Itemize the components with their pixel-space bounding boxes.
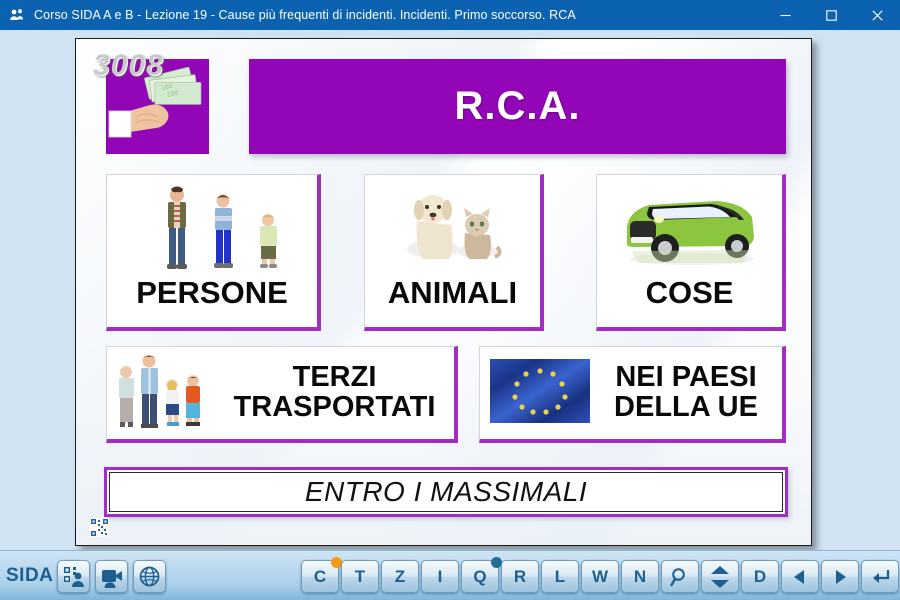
letter-button-q[interactable]: Q xyxy=(461,560,499,593)
green-car-photo xyxy=(597,175,782,279)
title-bar: Corso SIDA A e B - Lezione 19 - Cause pi… xyxy=(0,0,900,30)
bottom-toolbar: SIDA xyxy=(0,550,900,600)
footer-strip-inner: ENTRO I MASSIMALI xyxy=(109,472,783,512)
letter-button-label: Z xyxy=(395,567,405,587)
letter-button-label: T xyxy=(355,567,365,587)
right-triangle-icon xyxy=(831,568,849,586)
card-label: PERSONE xyxy=(136,277,288,308)
letter-button-label: I xyxy=(438,567,443,587)
letter-button-l[interactable]: L xyxy=(541,560,579,593)
letter-button-label: N xyxy=(634,567,646,587)
letter-button-label: W xyxy=(592,567,608,587)
card-label-line2: DELLA UE xyxy=(614,391,758,423)
cards-row: PERSONE xyxy=(106,174,786,331)
letter-button-n[interactable]: N xyxy=(621,560,659,593)
qr-person-button[interactable] xyxy=(57,560,90,593)
footer-text: ENTRO I MASSIMALI xyxy=(305,476,587,508)
left-triangle-icon xyxy=(791,568,809,586)
letter-button-r[interactable]: R xyxy=(501,560,539,593)
card-label: ANIMALI xyxy=(388,277,517,308)
card-label-line1: TERZI xyxy=(293,361,377,393)
letter-button-w[interactable]: W xyxy=(581,560,619,593)
eu-flag xyxy=(490,359,590,428)
search-button[interactable] xyxy=(661,560,699,593)
card-persone[interactable]: PERSONE xyxy=(106,174,321,331)
letter-button-i[interactable]: I xyxy=(421,560,459,593)
up-down-arrows-icon xyxy=(709,564,731,590)
workspace: 3008 100 100 xyxy=(0,30,900,550)
card-cose[interactable]: COSE xyxy=(596,174,786,331)
slide-number: 3008 xyxy=(93,49,164,83)
enter-button[interactable] xyxy=(861,560,899,593)
video-person-button[interactable] xyxy=(95,560,128,593)
maximize-button[interactable] xyxy=(808,0,854,30)
card-label: COSE xyxy=(646,277,734,308)
card-label: NEI PAESI DELLA UE xyxy=(590,363,782,423)
letter-button-label: L xyxy=(555,567,565,587)
minimize-button[interactable] xyxy=(762,0,808,30)
header-row: 100 100 R.C.A. xyxy=(106,59,786,154)
dog-and-cat-photo xyxy=(365,175,540,279)
slide-canvas: 3008 100 100 xyxy=(75,38,812,546)
letter-button-z[interactable]: Z xyxy=(381,560,419,593)
people-icon xyxy=(9,7,25,23)
close-button[interactable] xyxy=(854,0,900,30)
magnifier-icon xyxy=(670,567,690,587)
next-button[interactable] xyxy=(821,560,859,593)
three-people-photo xyxy=(107,175,317,279)
letter-button-label: R xyxy=(514,567,526,587)
globe-button[interactable] xyxy=(133,560,166,593)
card-label: TERZI TRASPORTATI xyxy=(215,363,454,423)
letter-button-c[interactable]: C xyxy=(301,560,339,593)
window-title: Corso SIDA A e B - Lezione 19 - Cause pi… xyxy=(34,8,576,22)
d-button-label: D xyxy=(754,567,766,587)
card-terzi-trasportati[interactable]: TERZI TRASPORTATI xyxy=(106,346,458,443)
brand-label: SIDA xyxy=(6,565,53,587)
card-label-line1: NEI PAESI xyxy=(615,361,756,393)
footer-strip: ENTRO I MASSIMALI xyxy=(104,467,788,517)
card-label-line2: TRASPORTATI xyxy=(234,391,436,423)
d-button[interactable]: D xyxy=(741,560,779,593)
application-window: Corso SIDA A e B - Lezione 19 - Cause pi… xyxy=(0,0,900,600)
card-animali[interactable]: ANIMALI xyxy=(364,174,544,331)
wide-row: TERZI TRASPORTATI xyxy=(106,346,786,443)
previous-button[interactable] xyxy=(781,560,819,593)
letter-button-label: Q xyxy=(473,567,486,587)
card-nei-paesi-della-ue[interactable]: NEI PAESI DELLA UE xyxy=(479,346,786,443)
slide-title: R.C.A. xyxy=(455,84,581,129)
family-group-photo xyxy=(107,347,215,440)
letter-button-label: C xyxy=(314,567,326,587)
spinner-button[interactable] xyxy=(701,560,739,593)
enter-return-icon xyxy=(870,568,890,586)
window-controls xyxy=(762,0,900,30)
qr-code-icon xyxy=(90,518,109,537)
letter-button-t[interactable]: T xyxy=(341,560,379,593)
slide-title-banner: R.C.A. xyxy=(249,59,786,154)
